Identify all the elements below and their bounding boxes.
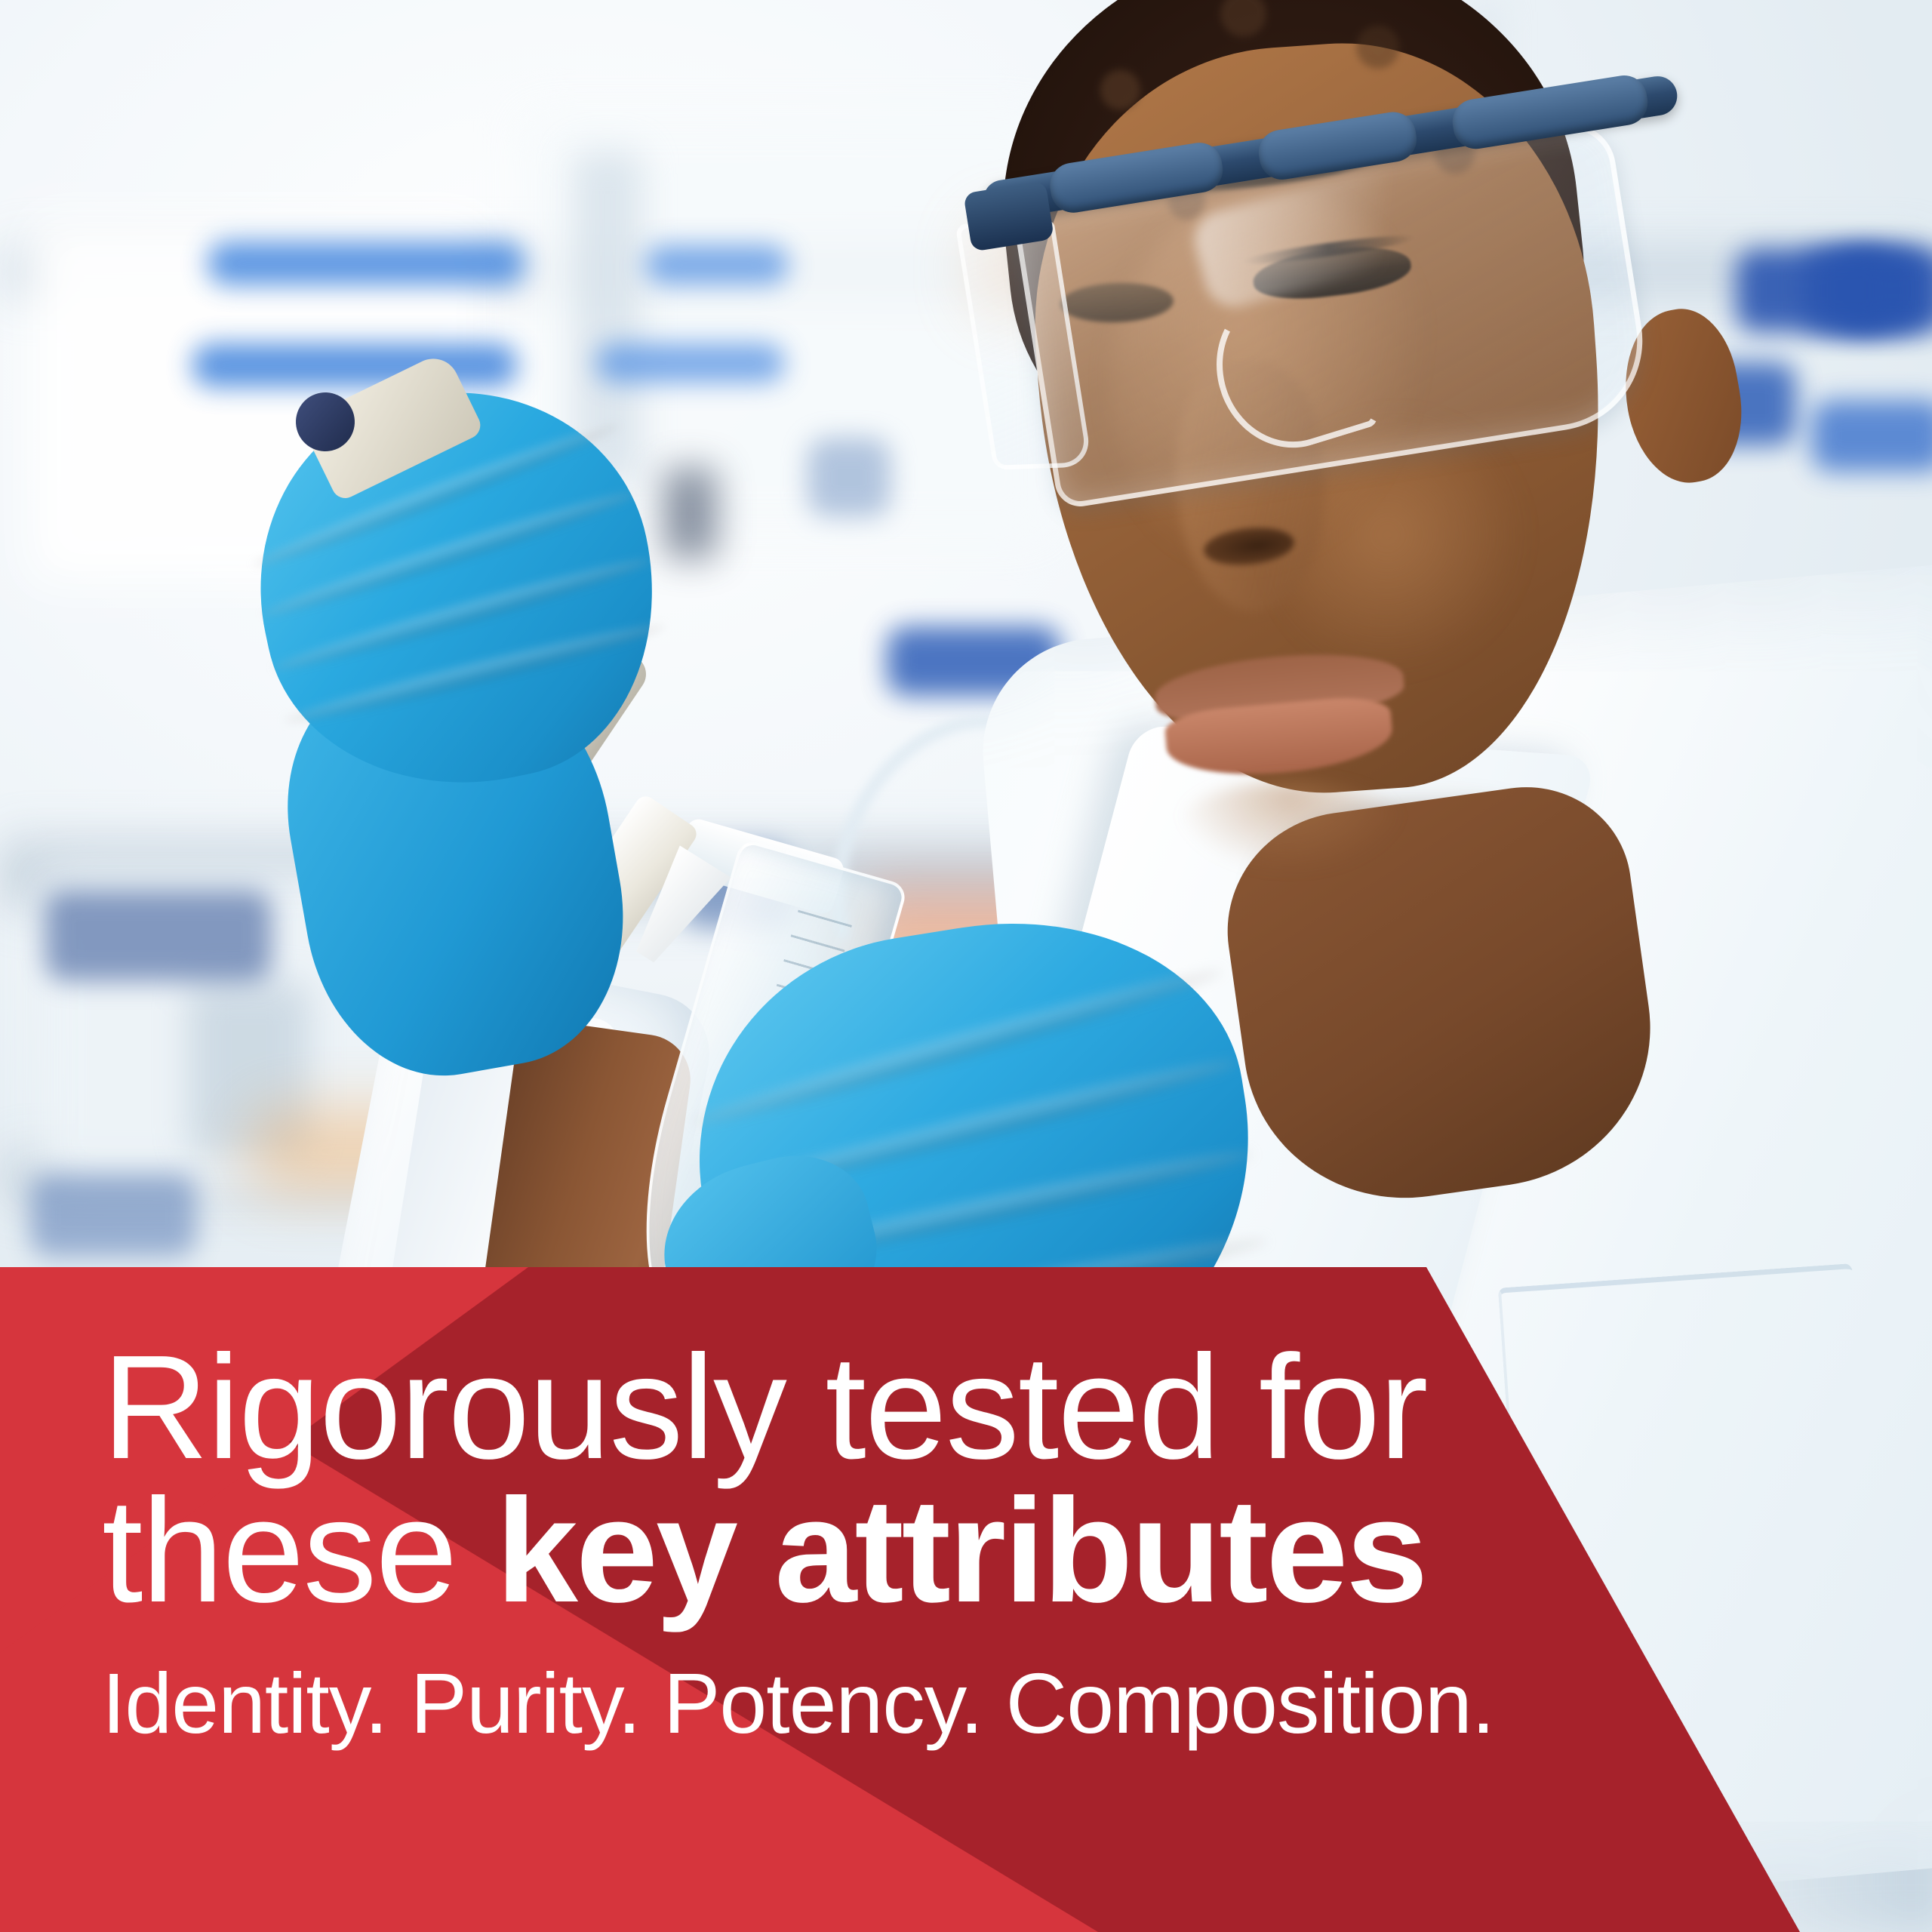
glove-fold [281,617,667,731]
headline-bold-part: key attributes [496,1468,1426,1633]
promo-poster: Rigorously tested for these key attribut… [0,0,1932,1932]
headline-line-2: these key attributes [102,1479,1687,1623]
headline-line-1: Rigorously tested for [102,1336,1687,1479]
subline-attributes: Identity. Purity. Potency. Composition. [102,1659,1687,1749]
headline-light-part: these [102,1468,496,1633]
glove-fold [260,484,639,623]
chin [1177,781,1404,872]
glove-fold [271,551,654,678]
lab-coat-pocket [1498,1263,1868,1521]
banner-text-block: Rigorously tested for these key attribut… [102,1336,1687,1749]
